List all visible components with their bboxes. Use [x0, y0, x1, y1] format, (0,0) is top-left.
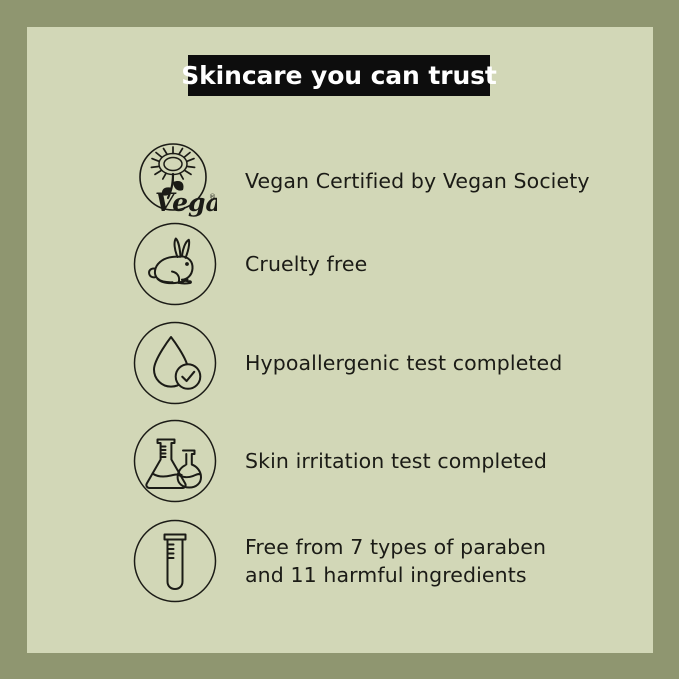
list-item: Hypoallergenic test completed — [133, 321, 603, 405]
list-item-label: Vegan Certified by Vegan Society — [245, 167, 590, 195]
vegan-society-logo-icon: Vegan ® — [133, 139, 217, 223]
content-panel: Skincare you can trust — [27, 27, 653, 653]
list-item: Vegan ® Vegan Certified by Vegan Society — [133, 139, 603, 223]
list-item-label: Cruelty free — [245, 250, 367, 278]
rabbit-icon — [133, 222, 217, 306]
lab-flasks-icon — [133, 419, 217, 503]
list-item-label: Hypoallergenic test completed — [245, 349, 562, 377]
list-item-label: Free from 7 types of paraben and 11 harm… — [245, 533, 546, 590]
list-item: Cruelty free — [133, 222, 603, 306]
registered-mark: ® — [209, 193, 216, 201]
vegan-wordmark: Vegan — [155, 188, 217, 217]
trust-claims-list: Vegan ® Vegan Certified by Vegan Society — [27, 27, 653, 653]
list-item: Free from 7 types of paraben and 11 harm… — [133, 519, 603, 603]
test-tube-icon — [133, 519, 217, 603]
list-item-label: Skin irritation test completed — [245, 447, 547, 475]
skincare-trust-infographic: Skincare you can trust — [0, 0, 679, 679]
list-item: Skin irritation test completed — [133, 419, 603, 503]
water-droplet-check-icon — [133, 321, 217, 405]
